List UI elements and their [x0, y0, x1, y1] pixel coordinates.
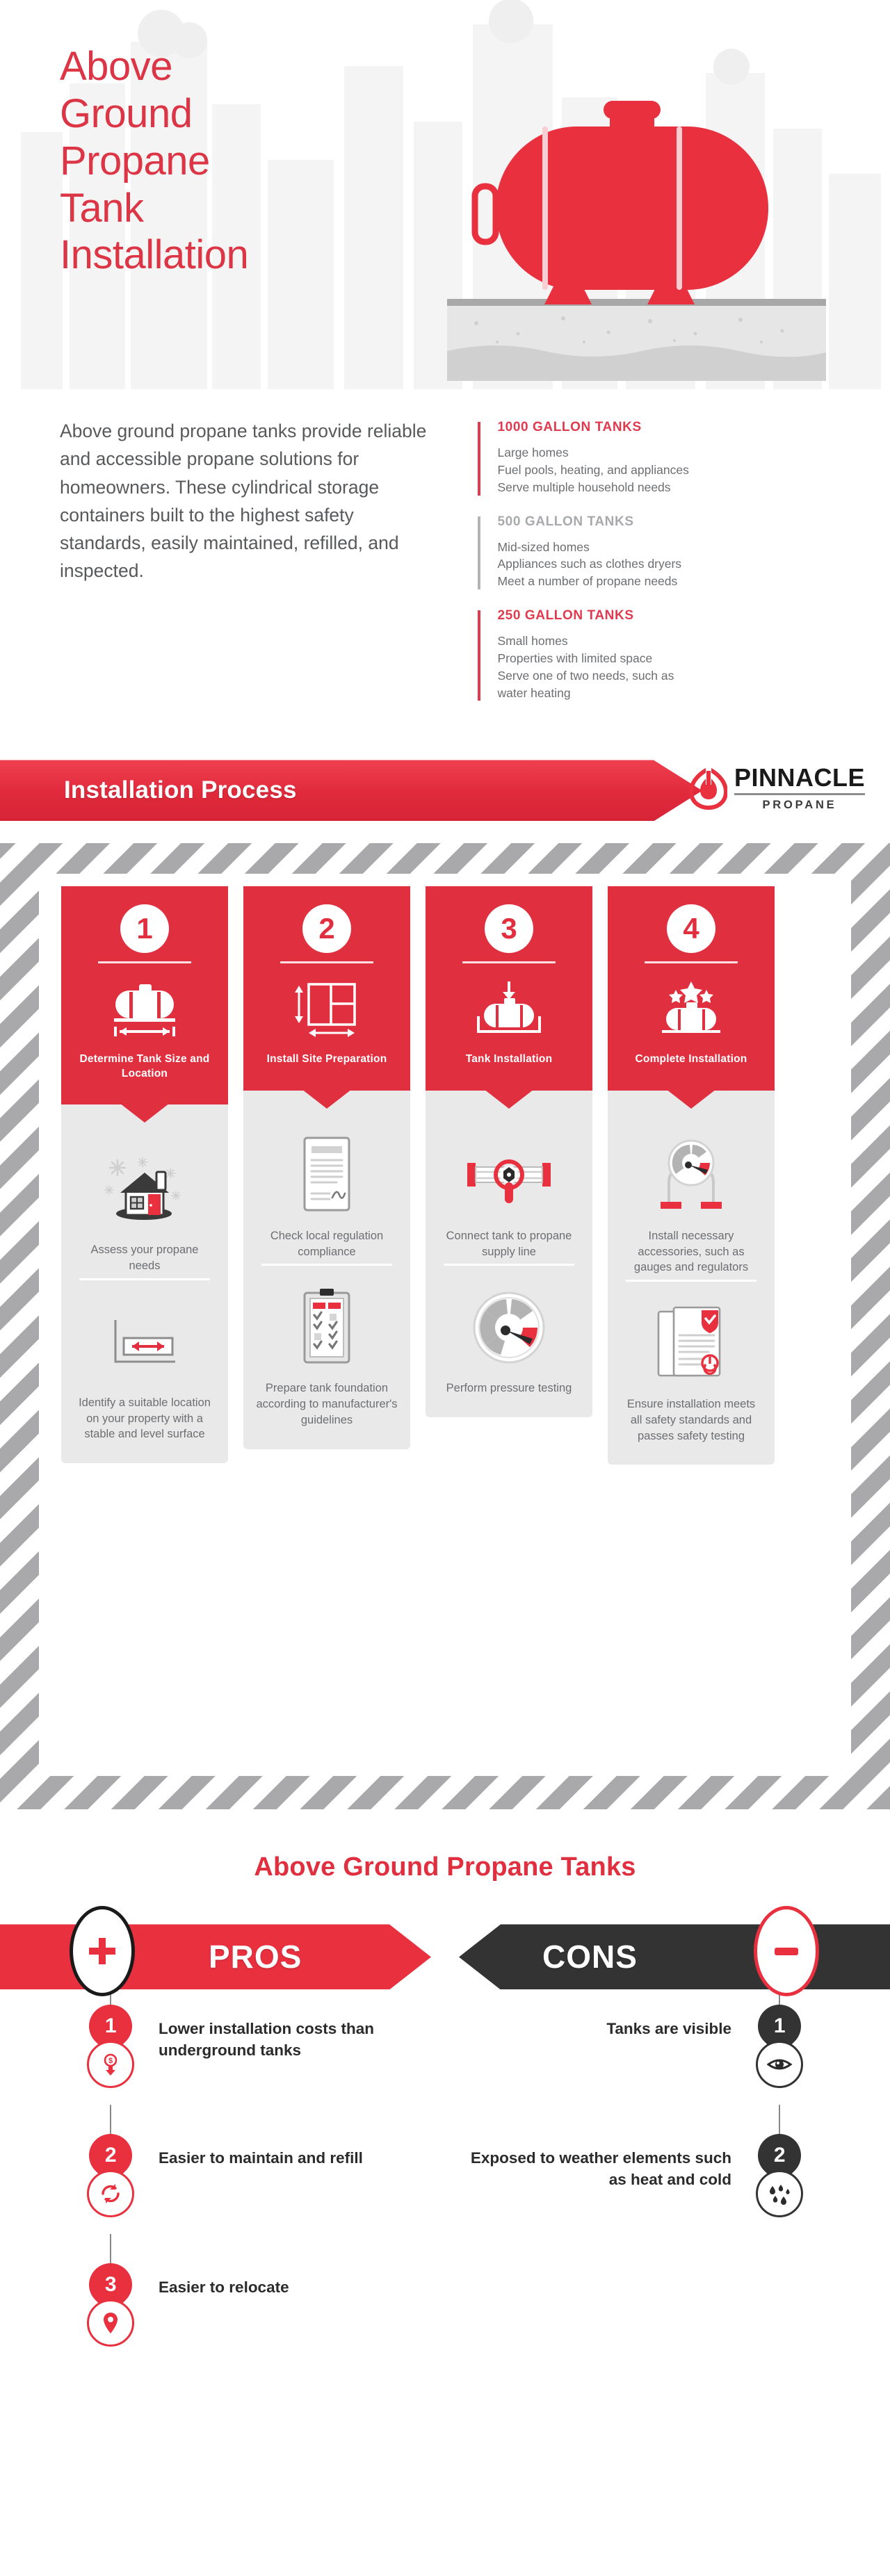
tank-placement-icon — [437, 980, 581, 1040]
tank-size-title: 250 GALLON TANKS — [497, 608, 830, 623]
cons-item-2: 2 Exposed to weather elements such as he… — [445, 2130, 890, 2259]
pros-number: 1 — [105, 2014, 117, 2038]
step-number-badge: 4 — [667, 904, 715, 953]
pros-cons-title: Above Ground Propane Tanks — [0, 1809, 890, 1882]
tank-width-measure-icon — [72, 980, 217, 1040]
card-header: 1 Determine T — [61, 886, 228, 1104]
level-surface-icon — [74, 1298, 216, 1387]
tank-size-title: 1000 GALLON TANKS — [497, 420, 830, 435]
tank-size-line: Meet a number of propane needs — [497, 573, 830, 590]
step-number-badge: 2 — [302, 904, 351, 953]
cons-item-1: 1 Tanks are visible — [445, 2000, 890, 2130]
plus-icon — [70, 1906, 135, 1996]
pros-item-3: 3 Easier to relocate — [0, 2259, 445, 2388]
pros-item-1: 1 $ Lower installation costs than underg… — [0, 2000, 445, 2130]
tank-size-title: 500 GALLON TANKS — [497, 514, 830, 530]
card-body: Connect tank to propane supply line — [426, 1091, 592, 1417]
pros-item-2: 2 Easier to maintain and refill — [0, 2130, 445, 2259]
card-body: Check local regulation compliance — [243, 1091, 410, 1449]
cons-column: 1 Tanks are visible 2 — [445, 2000, 890, 2388]
card-item: Prepare tank foundation according to man… — [256, 1260, 398, 1428]
card-header-label: Complete Installation — [619, 1052, 763, 1066]
pros-column: 1 $ Lower installation costs than underg… — [0, 2000, 445, 2388]
pros-text: Easier to maintain and refill — [159, 2148, 423, 2169]
tank-size-250: 250 GALLON TANKS Small homes Properties … — [478, 608, 830, 701]
pros-number: 2 — [105, 2144, 117, 2167]
safety-certificate-icon — [620, 1299, 762, 1388]
pros-text: Easier to relocate — [159, 2277, 423, 2298]
house-snowflakes-icon — [74, 1145, 216, 1234]
map-pin-icon — [87, 2299, 134, 2347]
tank-size-line: water heating — [497, 685, 830, 702]
document-signature-icon — [256, 1131, 398, 1220]
step-number-badge: 3 — [485, 904, 533, 953]
page-title: Above Ground Propane Tank Installation — [60, 43, 248, 279]
checklist-clipboard-icon — [256, 1283, 398, 1372]
intro-section: Above ground propane tanks provide relia… — [0, 403, 890, 719]
pros-number: 3 — [105, 2273, 117, 2297]
header-divider — [462, 961, 556, 963]
card-header: 2 Install Site Preparation — [243, 886, 410, 1090]
pros-text: Lower installation costs than undergroun… — [159, 2019, 423, 2060]
site-dimensions-icon — [254, 980, 399, 1040]
tank-size-line: Mid-sized homes — [497, 539, 830, 556]
refresh-cycle-icon — [87, 2170, 134, 2217]
card-item-text: Assess your propane needs — [74, 1242, 216, 1274]
card-item-text: Prepare tank foundation according to man… — [256, 1380, 398, 1428]
card-header-label: Tank Installation — [437, 1052, 581, 1066]
pros-label: PROS — [209, 1938, 302, 1975]
page-title-line-5: Installation — [60, 231, 248, 279]
process-cards: 1 Determine T — [61, 886, 829, 1465]
pinnacle-flame-icon — [690, 767, 727, 810]
process-card-3[interactable]: 3 Tank Installation — [426, 886, 592, 1465]
accent-bar — [478, 610, 480, 701]
card-item: Connect tank to propane supply line — [438, 1131, 580, 1260]
regulator-gauge-icon — [620, 1131, 762, 1220]
rain-drops-icon — [756, 2170, 803, 2217]
card-body: Install necessary accessories, such as g… — [608, 1091, 775, 1465]
cons-number: 2 — [774, 2144, 786, 2167]
tank-size-line: Properties with limited space — [497, 650, 830, 667]
header-divider — [280, 961, 373, 963]
pros-banner: PROS — [0, 1924, 431, 1989]
pros-cons-section: Above Ground Propane Tanks PROS CONS 1 — [0, 1809, 890, 2358]
tank-size-line: Serve one of two needs, such as — [497, 667, 830, 685]
card-item-text: Connect tank to propane supply line — [438, 1228, 580, 1260]
header-divider — [98, 961, 191, 963]
pinnacle-propane-logo: PINNACLE PROPANE — [690, 765, 865, 811]
eye-icon — [756, 2041, 803, 2088]
cons-banner: CONS — [459, 1924, 890, 1989]
card-item-text: Perform pressure testing — [438, 1380, 580, 1396]
cons-text: Tanks are visible — [467, 2019, 731, 2039]
card-item: Perform pressure testing — [438, 1260, 580, 1396]
propane-tank-illustration — [435, 83, 838, 382]
accent-bar — [478, 516, 480, 590]
tank-size-500: 500 GALLON TANKS Mid-sized homes Applian… — [478, 514, 830, 591]
card-item: Check local regulation compliance — [256, 1131, 398, 1260]
logo-subtitle: PROPANE — [734, 795, 865, 811]
tank-size-line: Fuel pools, heating, and appliances — [497, 462, 830, 479]
card-header-label: Determine Tank Size and Location — [72, 1052, 217, 1081]
process-section: 1 Determine T — [0, 843, 890, 1809]
card-item-text: Install necessary accessories, such as g… — [620, 1228, 762, 1275]
cons-label: CONS — [542, 1938, 638, 1975]
hero-section: Above Ground Propane Tank Installation — [0, 0, 890, 403]
card-item: Ensure installation meets all safety sta… — [620, 1275, 762, 1444]
card-body: Assess your propane needs Identify a sui… — [61, 1104, 228, 1463]
tank-size-line: Appliances such as clothes dryers — [497, 555, 830, 573]
tank-stars-icon — [619, 980, 763, 1040]
intro-paragraph: Above ground propane tanks provide relia… — [60, 417, 439, 719]
pros-cons-columns: 1 $ Lower installation costs than underg… — [0, 2000, 890, 2388]
money-down-icon: $ — [87, 2041, 134, 2088]
card-item-text: Ensure installation meets all safety sta… — [620, 1396, 762, 1444]
logo-name: PINNACLE — [734, 765, 865, 795]
card-item: Assess your propane needs — [74, 1145, 216, 1274]
minus-icon — [754, 1906, 819, 1996]
card-header: 4 Complete Installation — [608, 886, 775, 1090]
pipe-valve-icon — [438, 1131, 580, 1220]
process-card-1[interactable]: 1 Determine T — [61, 886, 228, 1465]
cons-number: 1 — [774, 2014, 786, 2038]
accent-bar — [478, 422, 480, 496]
page-title-line-1: Above — [60, 43, 248, 90]
svg-text:$: $ — [108, 2057, 113, 2065]
card-item-text: Check local regulation compliance — [256, 1228, 398, 1260]
card-item-text: Identify a suitable location on your pro… — [74, 1395, 216, 1442]
process-banner-arrow: Installation Process — [0, 760, 702, 821]
card-item: Install necessary accessories, such as g… — [620, 1131, 762, 1275]
page-title-line-4: Tank — [60, 185, 248, 232]
pros-cons-bars: PROS CONS — [0, 1918, 890, 1995]
tank-sizes-list: 1000 GALLON TANKS Large homes Fuel pools… — [478, 417, 830, 719]
header-divider — [645, 961, 738, 963]
installation-process-banner: Installation Process PINNACLE PROPANE — [0, 746, 890, 843]
cons-text: Exposed to weather elements such as heat… — [467, 2148, 731, 2190]
page-title-line-2: Ground — [60, 90, 248, 138]
pressure-gauge-icon — [438, 1283, 580, 1372]
card-item: Identify a suitable location on your pro… — [74, 1274, 216, 1442]
step-number-badge: 1 — [120, 904, 169, 953]
tank-size-line: Serve multiple household needs — [497, 479, 830, 496]
tank-size-line: Large homes — [497, 444, 830, 462]
process-banner-label: Installation Process — [64, 776, 297, 804]
tank-size-1000: 1000 GALLON TANKS Large homes Fuel pools… — [478, 420, 830, 496]
card-header-label: Install Site Preparation — [254, 1052, 399, 1066]
process-card-4[interactable]: 4 Complete Installation — [608, 886, 775, 1465]
page-title-line-3: Propane — [60, 138, 248, 185]
card-header: 3 Tank Installation — [426, 886, 592, 1090]
process-card-2[interactable]: 2 Install Site Preparation — [243, 886, 410, 1465]
tank-size-line: Small homes — [497, 633, 830, 650]
